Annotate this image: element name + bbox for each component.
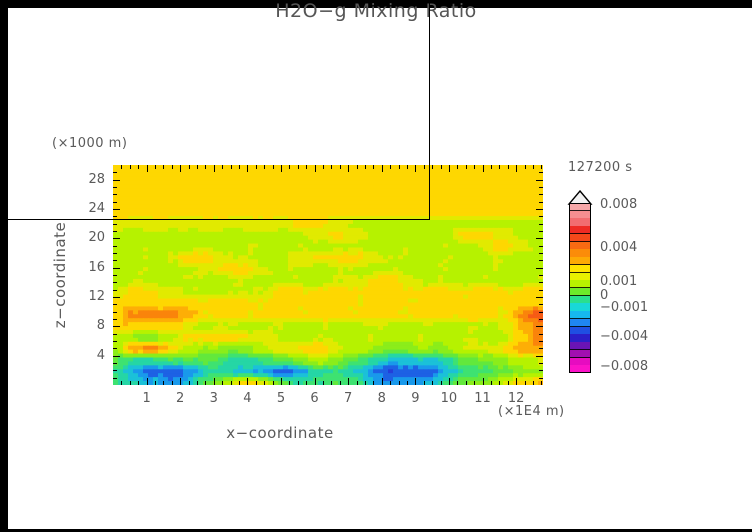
y-tick-right (539, 202, 543, 203)
y-tick (113, 216, 117, 217)
x-tick (399, 381, 400, 385)
y-tick (113, 202, 117, 203)
y-tick (113, 370, 117, 371)
x-tick-top (483, 165, 484, 172)
x-axis-units-label: (×1E4 m) (498, 404, 565, 419)
x-tick-label: 8 (367, 391, 397, 406)
x-tick (525, 381, 526, 385)
y-tick-label: 16 (71, 260, 105, 275)
x-tick-top (298, 165, 299, 169)
y-tick-right (539, 319, 543, 320)
y-tick-right (539, 253, 543, 254)
x-tick-top (390, 165, 391, 169)
x-tick-label: 9 (400, 391, 430, 406)
y-tick-right (539, 370, 543, 371)
x-tick (163, 381, 164, 385)
x-tick (121, 381, 122, 385)
x-tick (256, 381, 257, 385)
y-tick-label: 8 (71, 318, 105, 333)
x-tick (222, 381, 223, 385)
x-tick-top (407, 165, 408, 169)
x-tick (432, 381, 433, 385)
colorbar-tick-label: −0.001 (600, 300, 648, 315)
x-tick (407, 381, 408, 385)
colorbar (569, 203, 591, 373)
x-tick-top (214, 165, 215, 172)
x-tick (357, 381, 358, 385)
x-tick (138, 381, 139, 385)
y-tick-right (536, 297, 543, 298)
x-tick (289, 381, 290, 385)
x-tick (180, 378, 181, 385)
colorbar-tick-label: 0.008 (600, 197, 637, 212)
y-tick-right (539, 363, 543, 364)
x-tick-top (415, 165, 416, 172)
x-tick-label: 6 (300, 391, 330, 406)
x-tick-top (491, 165, 492, 169)
x-tick-top (365, 165, 366, 169)
y-tick (113, 319, 117, 320)
x-tick-top (525, 165, 526, 169)
y-tick-right (536, 356, 543, 357)
y-tick (113, 348, 117, 349)
y-tick (113, 194, 117, 195)
contour-plot-area (113, 165, 543, 385)
y-tick-right (539, 194, 543, 195)
x-tick (449, 378, 450, 385)
x-tick (348, 378, 349, 385)
y-tick-right (539, 172, 543, 173)
y-tick (113, 282, 117, 283)
y-tick-right (539, 224, 543, 225)
x-tick-top (281, 165, 282, 172)
y-tick (113, 356, 120, 357)
y-tick-label: 20 (71, 230, 105, 245)
y-tick (113, 326, 120, 327)
x-tick-label: 11 (468, 391, 498, 406)
y-tick (113, 312, 117, 313)
x-tick-top (382, 165, 383, 172)
x-tick-top (197, 165, 198, 169)
y-tick-right (539, 312, 543, 313)
x-axis-label: x−coordinate (0, 424, 560, 442)
x-tick (331, 381, 332, 385)
x-tick (474, 381, 475, 385)
y-tick-right (539, 334, 543, 335)
y-tick (113, 246, 117, 247)
x-tick (130, 381, 131, 385)
y-tick-right (539, 246, 543, 247)
x-tick (340, 381, 341, 385)
y-tick-right (539, 282, 543, 283)
x-tick-top (474, 165, 475, 169)
x-tick-top (172, 165, 173, 169)
x-tick (147, 378, 148, 385)
y-tick (113, 341, 117, 342)
y-tick-right (536, 326, 543, 327)
y-axis-units-label: (×1000 m) (52, 136, 127, 151)
x-tick (508, 381, 509, 385)
x-tick (189, 381, 190, 385)
x-tick (281, 378, 282, 385)
x-tick-top (533, 165, 534, 169)
x-tick (155, 381, 156, 385)
colorbar-tick-label: −0.004 (600, 329, 648, 344)
x-tick-top (180, 165, 181, 172)
y-tick (113, 231, 117, 232)
x-tick-top (449, 165, 450, 172)
x-tick-top (357, 165, 358, 169)
x-tick-label: 2 (165, 391, 195, 406)
x-tick (197, 381, 198, 385)
x-tick (390, 381, 391, 385)
y-tick-label: 4 (71, 348, 105, 363)
x-tick (466, 381, 467, 385)
y-tick (113, 172, 117, 173)
x-tick (264, 381, 265, 385)
y-tick (113, 304, 117, 305)
y-tick (113, 297, 120, 298)
y-tick (113, 275, 117, 276)
x-tick (214, 378, 215, 385)
x-tick (541, 381, 542, 385)
x-tick-top (205, 165, 206, 169)
x-tick (205, 381, 206, 385)
x-tick (247, 378, 248, 385)
x-tick-top (130, 165, 131, 169)
y-tick (113, 187, 117, 188)
y-tick (113, 268, 120, 269)
x-tick (273, 381, 274, 385)
x-tick-top (273, 165, 274, 169)
x-tick-top (222, 165, 223, 169)
y-tick-right (539, 275, 543, 276)
y-tick (113, 334, 117, 335)
x-tick (424, 381, 425, 385)
x-tick (491, 381, 492, 385)
y-tick (113, 363, 117, 364)
x-tick-top (516, 165, 517, 172)
image-border-left (0, 0, 8, 532)
y-tick-right (539, 187, 543, 188)
x-tick-label: 5 (266, 391, 296, 406)
y-tick (113, 378, 117, 379)
y-tick-right (539, 304, 543, 305)
x-tick (516, 378, 517, 385)
x-tick (373, 381, 374, 385)
x-tick-label: 1 (132, 391, 162, 406)
x-tick (231, 381, 232, 385)
x-tick-top (155, 165, 156, 169)
y-tick-label: 28 (71, 172, 105, 187)
y-tick (113, 238, 120, 239)
x-tick-top (306, 165, 307, 169)
colorbar-tick-label: 0.001 (600, 274, 637, 289)
x-tick (315, 378, 316, 385)
y-tick-right (539, 260, 543, 261)
x-tick-top (256, 165, 257, 169)
x-tick-top (163, 165, 164, 169)
x-tick-label: 3 (199, 391, 229, 406)
colorbar-tick-label: 0.004 (600, 240, 637, 255)
x-tick-label: 7 (333, 391, 363, 406)
x-tick-top (323, 165, 324, 169)
x-tick-top (466, 165, 467, 169)
x-tick (365, 381, 366, 385)
colorbar-band (569, 365, 591, 373)
x-tick (533, 381, 534, 385)
y-tick-right (539, 341, 543, 342)
x-tick (239, 381, 240, 385)
x-tick-top (121, 165, 122, 169)
x-tick-top (399, 165, 400, 169)
colorbar-tick-label: −0.008 (600, 359, 648, 374)
y-tick (113, 253, 117, 254)
time-annotation: 127200 s (568, 160, 633, 175)
x-tick-top (231, 165, 232, 169)
x-tick-top (424, 165, 425, 169)
x-tick-top (373, 165, 374, 169)
x-tick (382, 378, 383, 385)
x-tick-top (348, 165, 349, 172)
y-tick-right (536, 209, 543, 210)
x-tick-top (289, 165, 290, 169)
y-tick-right (536, 268, 543, 269)
x-tick-top (441, 165, 442, 169)
x-tick-top (138, 165, 139, 169)
x-tick (415, 378, 416, 385)
x-tick-top (457, 165, 458, 169)
x-tick (441, 381, 442, 385)
y-axis-label: z−coordinate (51, 175, 69, 375)
figure-canvas: H2O−g Mixing Ratio (×1000 m) 127200 s 12… (0, 0, 752, 532)
x-tick-top (541, 165, 542, 169)
x-tick-label: 10 (434, 391, 464, 406)
y-tick (113, 290, 117, 291)
x-tick-top (315, 165, 316, 172)
x-tick (298, 381, 299, 385)
y-tick-right (539, 348, 543, 349)
x-tick (306, 381, 307, 385)
y-tick-right (539, 216, 543, 217)
y-tick (113, 224, 117, 225)
y-tick-right (536, 238, 543, 239)
x-tick-top (499, 165, 500, 169)
x-tick (172, 381, 173, 385)
x-tick-top (189, 165, 190, 169)
y-tick-label: 24 (71, 201, 105, 216)
x-tick-top (239, 165, 240, 169)
y-tick (113, 260, 117, 261)
x-tick (499, 381, 500, 385)
x-tick-top (264, 165, 265, 169)
y-tick (113, 180, 120, 181)
y-tick-right (539, 290, 543, 291)
x-tick (483, 378, 484, 385)
x-tick-top (331, 165, 332, 169)
x-tick (323, 381, 324, 385)
contour-field (113, 165, 543, 385)
page-title: H2O−g Mixing Ratio (0, 0, 752, 22)
x-tick-top (432, 165, 433, 169)
x-tick-top (247, 165, 248, 172)
x-tick-top (147, 165, 148, 172)
x-tick-label: 4 (232, 391, 262, 406)
y-tick-label: 12 (71, 289, 105, 304)
x-tick-top (508, 165, 509, 169)
y-tick-right (539, 378, 543, 379)
y-tick-right (536, 180, 543, 181)
y-tick-right (539, 231, 543, 232)
x-tick (457, 381, 458, 385)
x-tick-top (340, 165, 341, 169)
y-tick (113, 209, 120, 210)
